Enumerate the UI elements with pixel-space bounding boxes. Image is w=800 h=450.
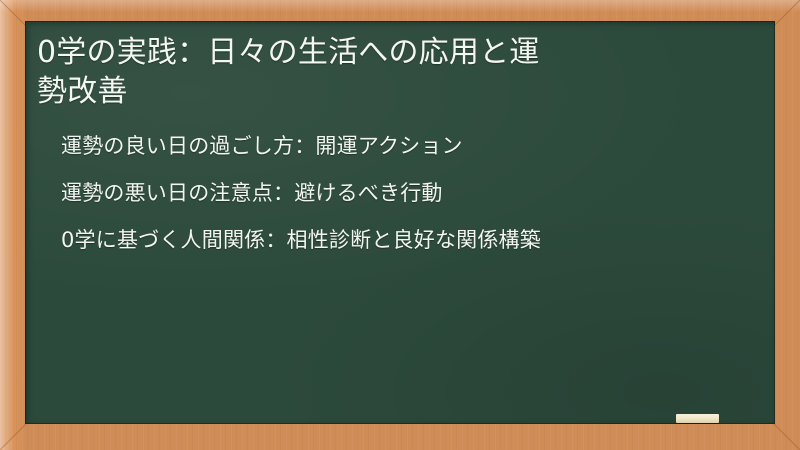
slide-bullet-list: 運勢の良い日の過ごし方：開運アクション 運勢の悪い日の注意点：避けるべき行動 0… [37, 133, 757, 255]
chalk-stick [676, 414, 719, 423]
blackboard-surface: 0学の実践：日々の生活への応用と運勢改善 運勢の良い日の過ごし方：開運アクション… [25, 21, 775, 424]
blackboard-slide: 0学の実践：日々の生活への応用と運勢改善 運勢の良い日の過ごし方：開運アクション… [0, 0, 800, 450]
list-item: 運勢の悪い日の注意点：避けるべき行動 [61, 180, 727, 208]
slide-title-line-2: 勢改善 [37, 74, 128, 109]
blackboard-content: 0学の実践：日々の生活への応用と運勢改善 運勢の良い日の過ごし方：開運アクション… [25, 21, 775, 424]
slide-title: 0学の実践：日々の生活への応用と運勢改善 [37, 33, 757, 111]
list-item: 運勢の良い日の過ごし方：開運アクション [61, 133, 727, 161]
list-item: 0学に基づく人間関係：相性診断と良好な関係構築 [61, 227, 727, 255]
slide-title-line-1: 0学の実践：日々の生活への応用と運 [37, 35, 540, 70]
